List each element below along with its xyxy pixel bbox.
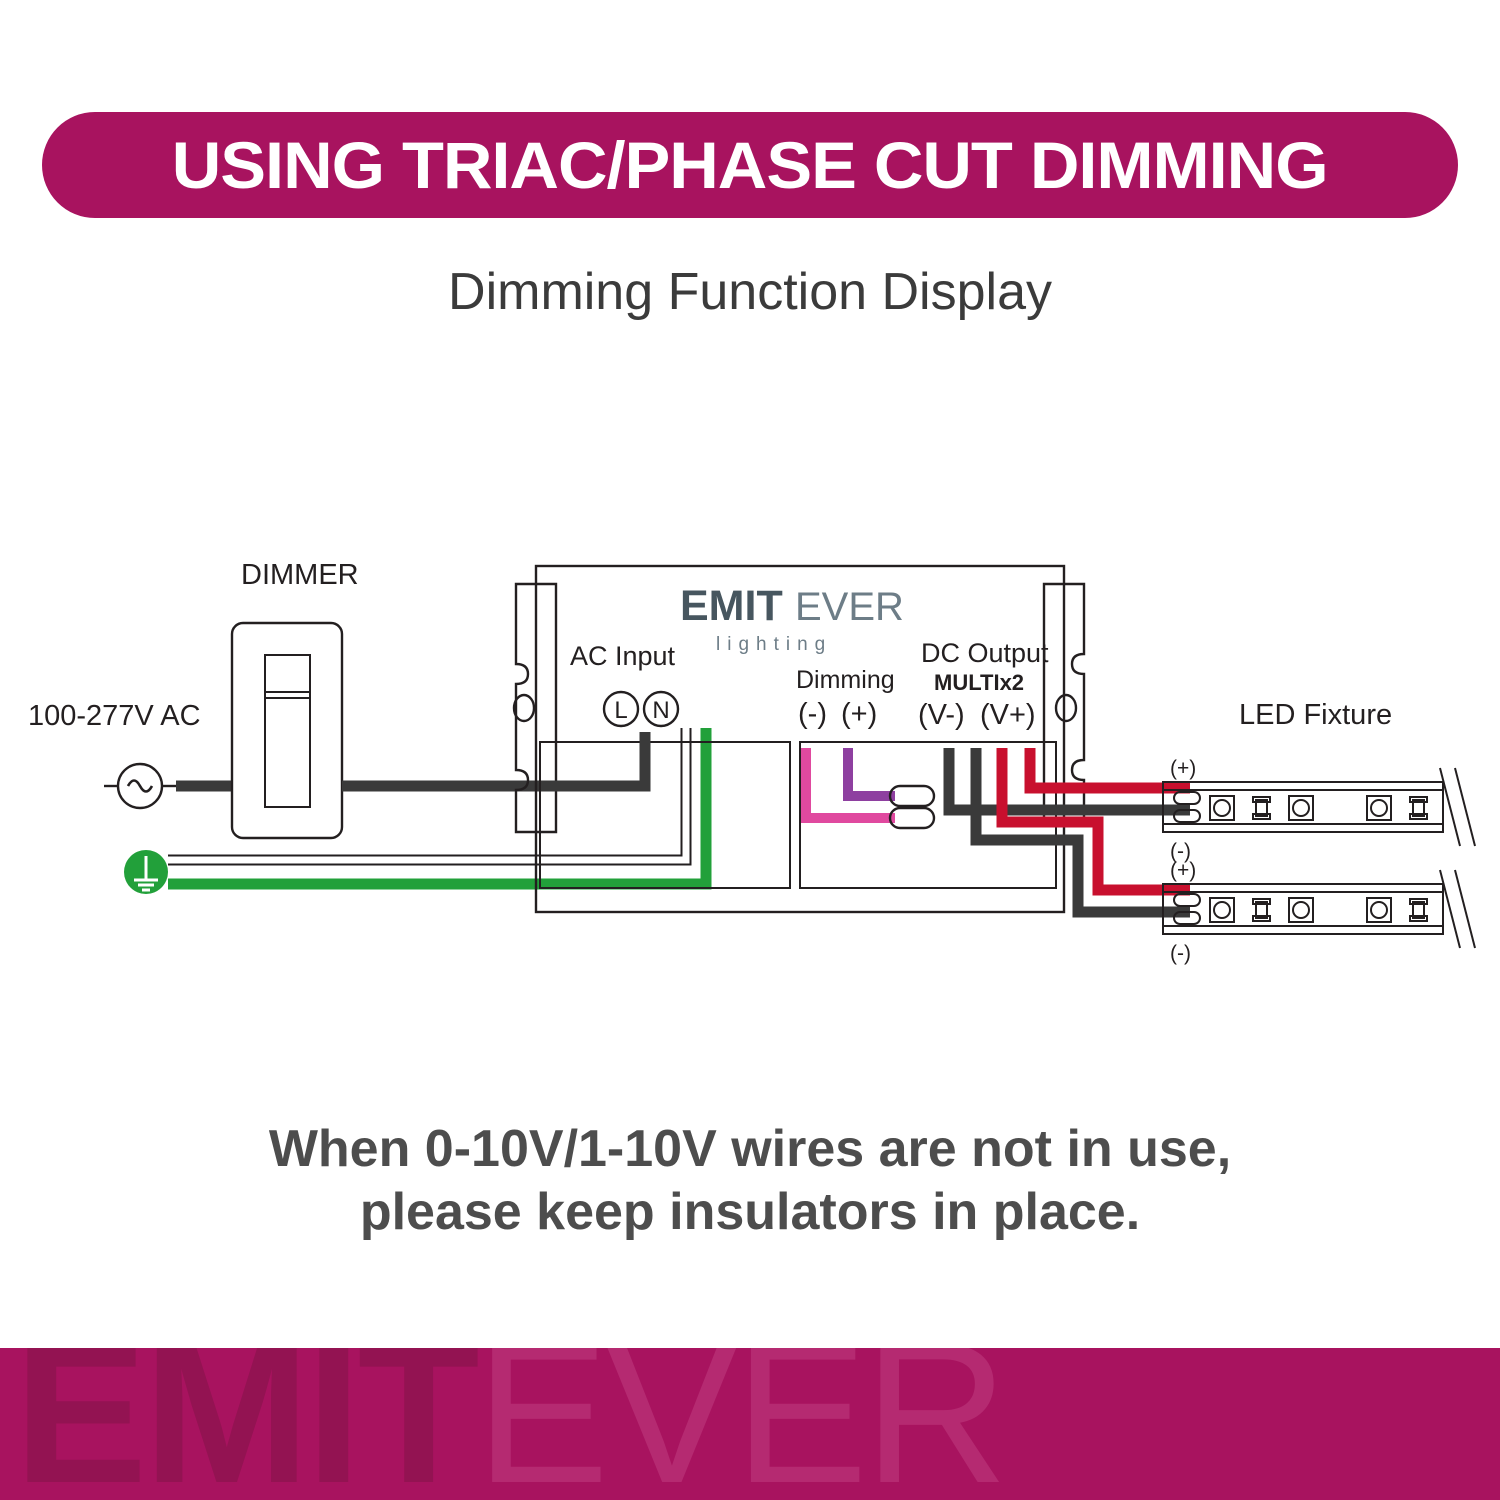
caption-line-1: When 0-10V/1-10V wires are not in use, (269, 1120, 1231, 1178)
dimmer-label: DIMMER (241, 559, 359, 591)
instruction-caption: When 0-10V/1-10V wires are not in use, p… (0, 1118, 1500, 1245)
led-fixture-group: LED Fixture (+) (1163, 699, 1475, 965)
terminal-l-label: L (614, 697, 627, 724)
wire-neutral (168, 728, 686, 860)
dc-terminal-vminus: (V-) (918, 699, 965, 731)
footer-watermark-bold: EMIT (14, 1348, 476, 1500)
wire-vminus-strip1 (949, 748, 1190, 810)
led-strip-1: (+) (1163, 757, 1475, 863)
terminal-n-label: N (652, 697, 669, 724)
dimming-terminal-minus: (-) (798, 698, 827, 730)
header-banner: USING TRIAC/PHASE CUT DIMMING (42, 112, 1458, 218)
dc-terminal-vplus: (V+) (980, 699, 1036, 731)
strip2-plus-label: (+) (1170, 859, 1196, 882)
dimming-wires (806, 748, 934, 828)
driver-brand-bold: EMIT (680, 582, 783, 630)
wiring-diagram: .ln{fill:none;stroke:#231f20;stroke-widt… (0, 520, 1500, 1000)
wire-dim-plus (848, 748, 895, 796)
ac-source-icon (104, 764, 176, 808)
led-fixture-label: LED Fixture (1239, 699, 1392, 731)
ac-compartment (540, 742, 790, 888)
footer-watermark: EMITEVER (14, 1348, 1004, 1500)
insulator-cap-minus (890, 808, 934, 828)
ac-input-label: AC Input (570, 641, 676, 671)
driver-brand-sub: lighting (716, 634, 832, 655)
caption-line-2: please keep insulators in place. (0, 1181, 1500, 1244)
dc-output-label: DC Output (921, 638, 1049, 668)
voltage-label: 100-277V AC (28, 700, 201, 732)
footer-banner: EMITEVER (0, 1348, 1500, 1500)
ac-source-group: 100-277V AC (28, 700, 232, 808)
insulator-cap-plus (890, 786, 934, 806)
page-root: USING TRIAC/PHASE CUT DIMMING Dimming Fu… (0, 0, 1500, 1500)
led-strip-2: (+) (-) (1163, 859, 1475, 965)
footer-watermark-light: EVER (476, 1348, 1005, 1500)
subtitle: Dimming Function Display (0, 262, 1500, 322)
dc-output-sublabel: MULTIx2 (934, 670, 1024, 695)
dimming-label: Dimming (796, 666, 895, 694)
driver-brand-light: EVER (795, 585, 904, 629)
dimming-terminal-plus: (+) (841, 698, 877, 730)
wire-line-to-L (553, 732, 645, 786)
earth-ground-icon (124, 850, 168, 894)
page-title: USING TRIAC/PHASE CUT DIMMING (172, 127, 1328, 203)
strip1-plus-label: (+) (1170, 757, 1196, 780)
strip2-minus-label: (-) (1170, 942, 1191, 965)
dimmer-group: DIMMER (232, 559, 553, 838)
